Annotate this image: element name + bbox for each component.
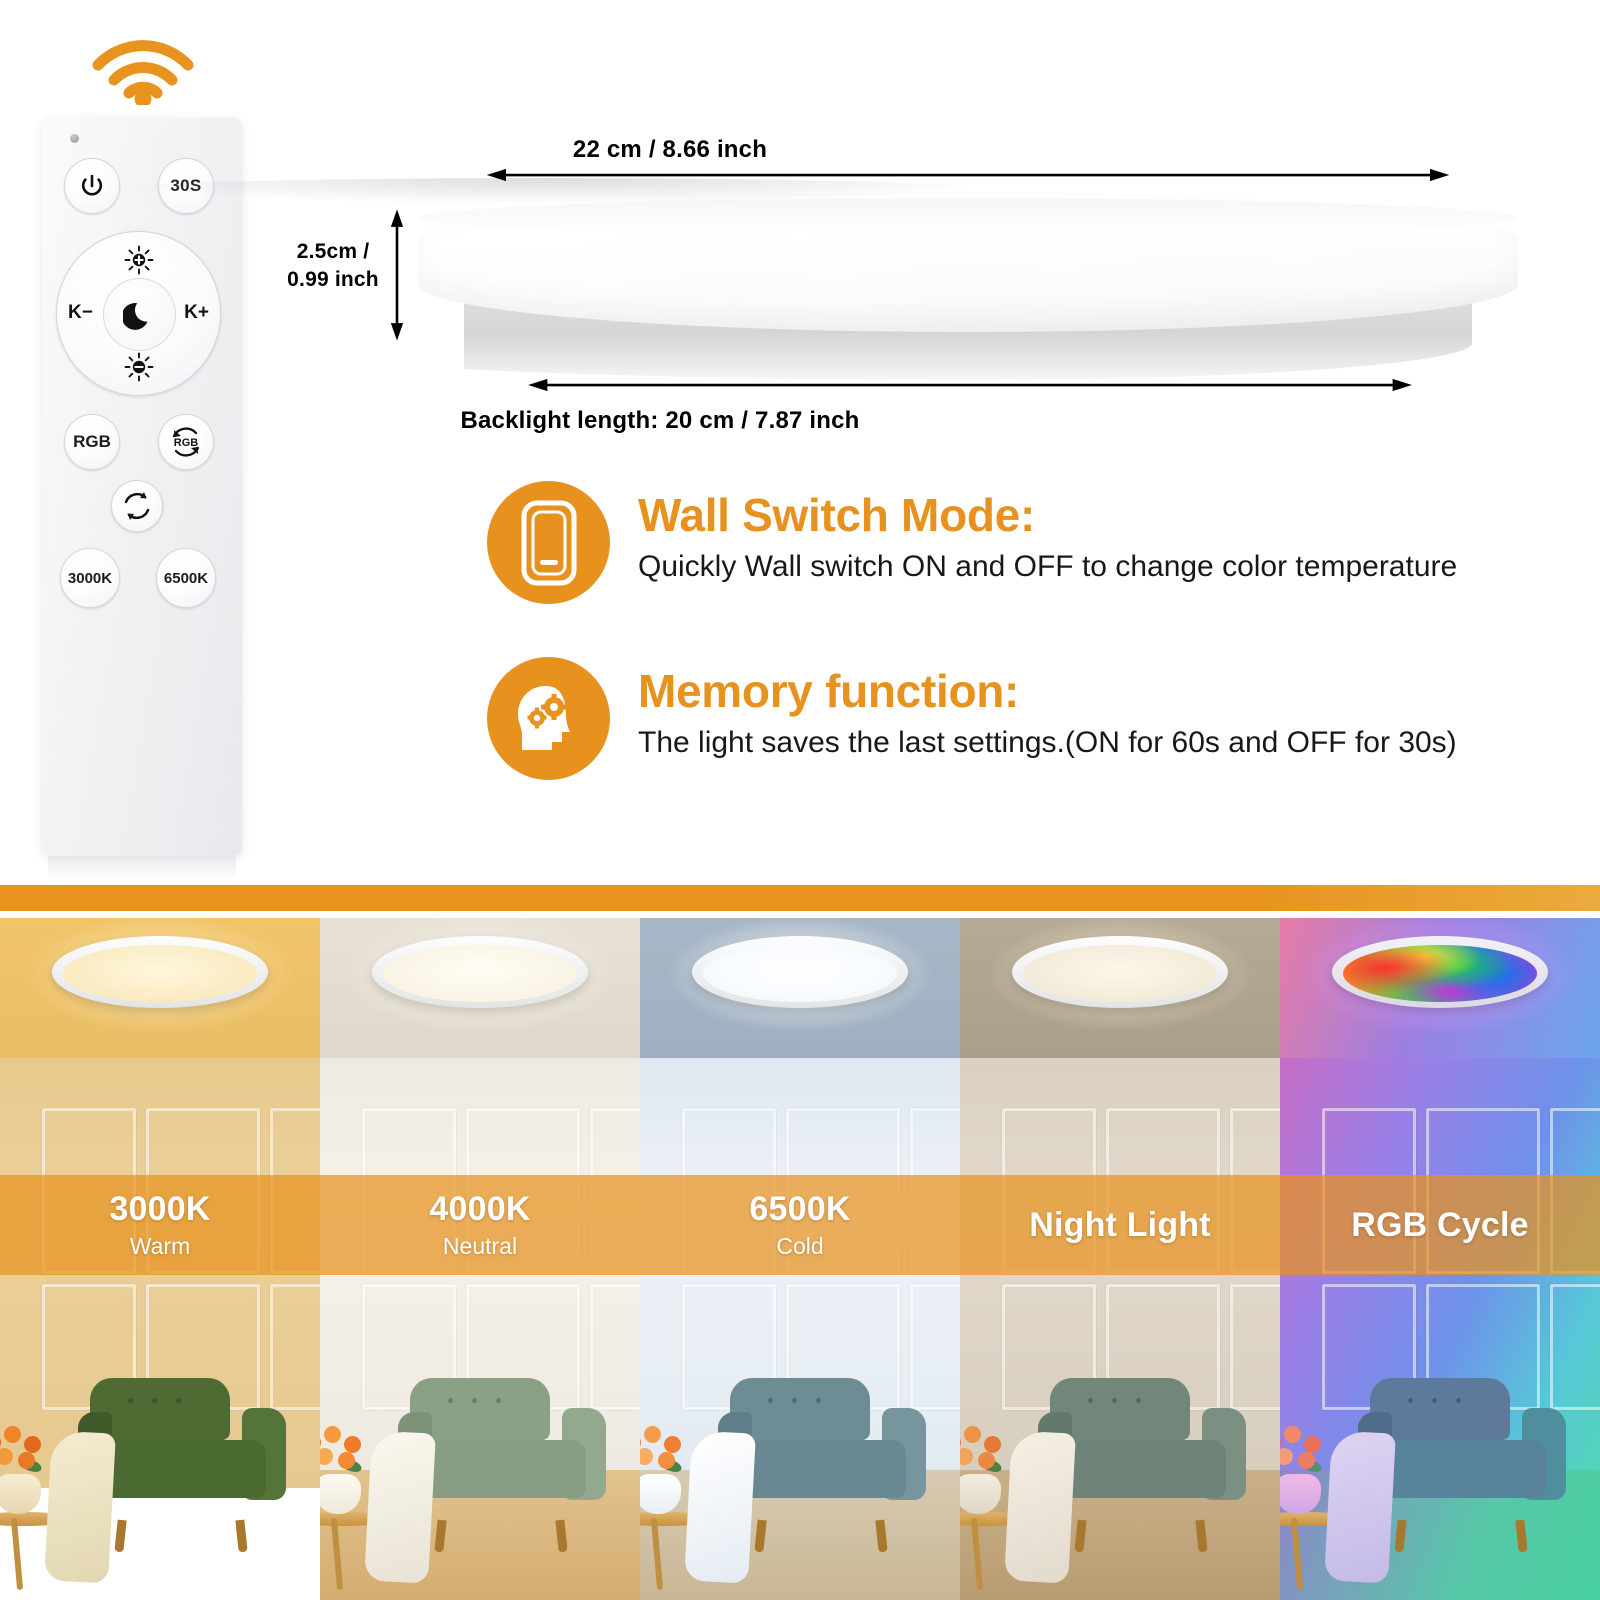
scene-night-light	[960, 918, 1280, 1600]
scene-6500k	[640, 918, 960, 1600]
color-mode-scenes	[0, 918, 1600, 1600]
cycle-button[interactable]	[111, 480, 163, 532]
scene-4000k	[320, 918, 640, 1600]
power-icon	[79, 173, 105, 199]
kelvin-up-button[interactable]: K+	[184, 302, 209, 324]
moon-icon	[123, 298, 157, 332]
scene-lamp	[1332, 936, 1548, 1008]
throw-blanket	[684, 1430, 756, 1583]
wall-switch-description: Quickly Wall switch ON and OFF to change…	[638, 549, 1457, 585]
memory-function-description: The light saves the last settings.(ON fo…	[638, 725, 1457, 761]
scene-lamp	[1012, 936, 1228, 1008]
height-dimension-label: 2.5cm / 0.99 inch	[268, 238, 398, 295]
ceiling-light-product-image	[418, 192, 1518, 377]
width-dimension-label: 22 cm / 8.66 inch	[0, 136, 1600, 164]
scene-lamp	[372, 936, 588, 1008]
brightness-down-button[interactable]	[124, 352, 154, 382]
divider-gap	[0, 911, 1600, 918]
throw-blanket	[1004, 1430, 1076, 1583]
memory-function-text: Memory function: The light saves the las…	[638, 657, 1457, 761]
night-light-button[interactable]	[103, 278, 176, 351]
remote-control[interactable]: 30S K−	[42, 118, 242, 856]
scene-lamp	[692, 936, 908, 1008]
memory-function-badge	[487, 657, 610, 780]
feature-memory-function: Memory function: The light saves the las…	[487, 657, 1457, 780]
rotate-icon	[117, 486, 157, 526]
feature-wall-switch: Wall Switch Mode: Quickly Wall switch ON…	[487, 481, 1457, 604]
wifi-icon	[88, 33, 198, 105]
product-info-section: 30S K−	[0, 0, 1600, 885]
scene-rgb-cycle	[1280, 918, 1600, 1600]
sun-plus-icon	[124, 245, 154, 275]
wall-switch-icon	[518, 498, 580, 588]
svg-text:RGB: RGB	[174, 437, 199, 449]
preset-6500k-button[interactable]: 6500K	[156, 548, 216, 608]
wall-switch-badge	[487, 481, 610, 604]
scene-lamp	[52, 936, 268, 1008]
sun-minus-icon	[124, 352, 154, 382]
wall-switch-text: Wall Switch Mode: Quickly Wall switch ON…	[638, 481, 1457, 585]
backlight-dimension-arrow	[465, 378, 1475, 392]
control-dial[interactable]: K− K+	[56, 231, 221, 396]
orange-divider	[0, 885, 1600, 911]
remote-reflection	[48, 856, 236, 882]
kelvin-down-button[interactable]: K−	[68, 302, 93, 324]
backlight-dimension-label: Backlight length: 20 cm / 7.87 inch	[0, 407, 1600, 435]
height-dimension-arrow	[390, 200, 404, 350]
preset-3000k-button[interactable]: 3000K	[60, 548, 120, 608]
lamp-rim	[418, 198, 1518, 238]
brightness-up-button[interactable]	[124, 245, 154, 275]
throw-blanket	[1324, 1430, 1396, 1583]
throw-blanket	[364, 1430, 436, 1583]
scene-3000k	[0, 918, 320, 1600]
wall-switch-title: Wall Switch Mode:	[638, 491, 1457, 539]
throw-blanket	[44, 1430, 116, 1583]
rgb-face	[1343, 945, 1537, 1002]
head-gears-icon	[506, 676, 592, 762]
width-dimension-arrow	[418, 168, 1518, 182]
memory-function-title: Memory function:	[638, 667, 1457, 715]
